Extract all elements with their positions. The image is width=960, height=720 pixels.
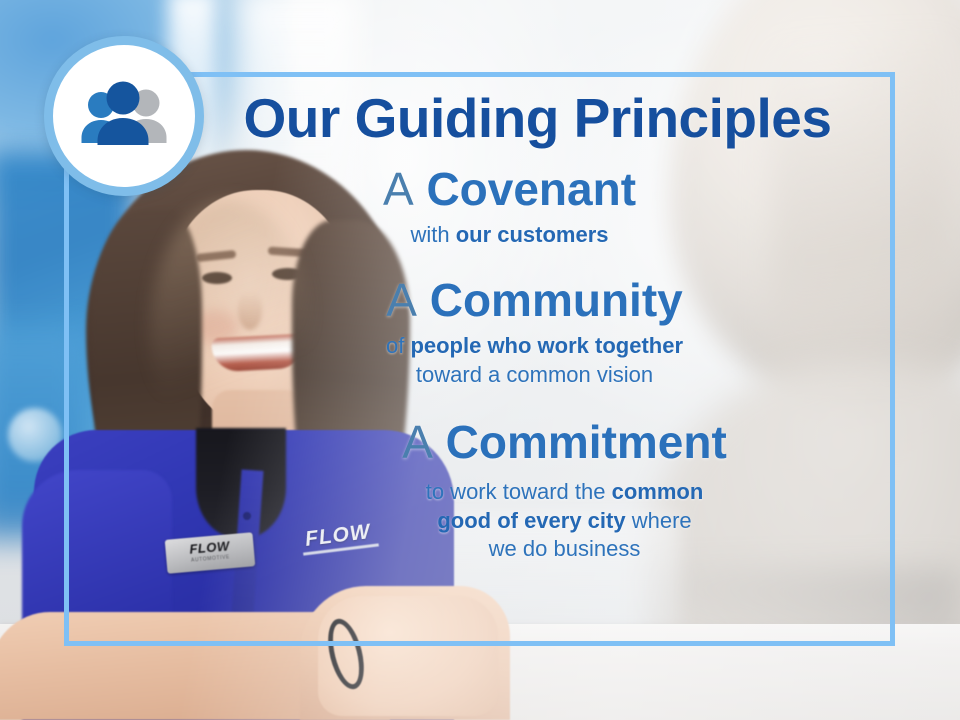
principle-sub-3-line3: we do business xyxy=(489,536,641,561)
principle-key-1: Covenant xyxy=(426,163,636,215)
text-content: Our Guiding Principles A Covenant with o… xyxy=(64,72,895,646)
principle-sub-1-bold: our customers xyxy=(456,222,609,247)
principle-sub-1-plain: with xyxy=(410,222,455,247)
principle-key-2: Community xyxy=(430,274,683,326)
principle-sub-3-line1-bold: common xyxy=(612,479,704,504)
principle-sub-commitment: to work toward the common good of every … xyxy=(268,478,861,564)
principle-heading-commitment: A Commitment xyxy=(268,419,861,466)
principle-sub-covenant: with our customers xyxy=(158,221,861,250)
principle-sub-2-line1-plain: of xyxy=(386,333,410,358)
page-title: Our Guiding Principles xyxy=(98,90,861,148)
principle-lead-3: A xyxy=(402,416,433,468)
principle-lead-2: A xyxy=(386,274,417,326)
principle-sub-3-line1-plain: to work toward the xyxy=(426,479,612,504)
principle-block-covenant: A Covenant with our customers xyxy=(98,166,861,250)
principle-block-commitment: A Commitment to work toward the common g… xyxy=(98,419,861,564)
principle-sub-3-line2-bold: good of every city xyxy=(437,508,625,533)
principle-lead-1: A xyxy=(383,163,414,215)
principle-sub-community: of people who work together toward a com… xyxy=(208,332,861,389)
principle-sub-2-line1-bold: people who work together xyxy=(410,333,683,358)
principle-heading-covenant: A Covenant xyxy=(158,166,861,213)
principle-block-community: A Community of people who work together … xyxy=(98,277,861,389)
principle-sub-3-line2-plain: where xyxy=(626,508,692,533)
principle-heading-community: A Community xyxy=(208,277,861,324)
principle-key-3: Commitment xyxy=(446,416,727,468)
principle-sub-2-line2: toward a common vision xyxy=(416,362,653,387)
guiding-principles-graphic: FLOW AUTOMOTIVE FLOW Our G xyxy=(0,0,960,720)
